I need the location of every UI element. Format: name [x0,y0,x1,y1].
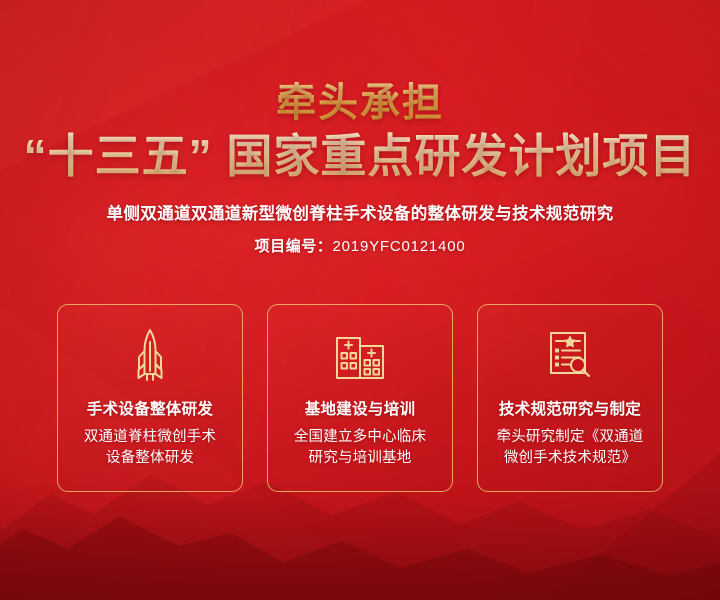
hospital-building-icon [333,327,387,383]
highlight-card-list: 手术设备整体研发 双通道脊柱微创手术 设备整体研发 [57,304,663,492]
highlight-card-body-line2: 研究与培训基地 [309,450,412,466]
poster-banner: 牵头承担 “十三五” 国家重点研发计划项目 单侧双通道双通道新型微创脊柱手术设备… [0,0,720,600]
project-number: 项目编号：2019YFC0121400 [255,235,466,256]
headline-secondary: “十三五” 国家重点研发计划项目 [24,131,697,182]
highlight-card-body-line2: 微创手术技术规范》 [504,450,636,466]
project-subtitle: 单侧双通道双通道新型微创脊柱手术设备的整体研发与技术规范研究 [107,200,614,224]
highlight-card-title: 技术规范研究与制定 [499,397,641,419]
highlight-card-body-line1: 全国建立多中心临床 [294,429,426,445]
highlight-card-body: 双通道脊柱微创手术 设备整体研发 [72,427,228,470]
project-number-label: 项目编号： [255,238,333,255]
highlight-card-body: 全国建立多中心临床 研究与培训基地 [282,427,438,470]
highlight-card-title: 基地建设与培训 [305,397,416,419]
highlight-card-body: 牵头研究制定《双通道 微创手术技术规范》 [492,427,648,470]
rocket-icon [127,327,173,383]
highlight-card-equipment-rnd[interactable]: 手术设备整体研发 双通道脊柱微创手术 设备整体研发 [57,304,243,492]
project-number-value: 2019YFC0121400 [333,238,466,255]
highlight-card-body-line1: 双通道脊柱微创手术 [84,429,216,445]
highlight-card-body-line2: 设备整体研发 [106,450,194,466]
highlight-card-title: 手术设备整体研发 [87,397,213,419]
highlight-card-base-training[interactable]: 基地建设与培训 全国建立多中心临床 研究与培训基地 [267,304,453,492]
poster-content: 牵头承担 “十三五” 国家重点研发计划项目 单侧双通道双通道新型微创脊柱手术设备… [0,0,720,600]
document-magnifier-icon [545,327,595,383]
highlight-card-body-line1: 牵头研究制定《双通道 [497,429,644,445]
headline-primary: 牵头承担 [276,82,444,125]
highlight-card-tech-standard[interactable]: 技术规范研究与制定 牵头研究制定《双通道 微创手术技术规范》 [477,304,663,492]
